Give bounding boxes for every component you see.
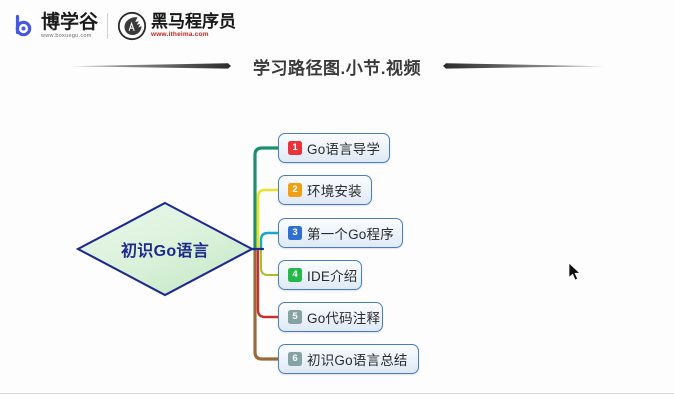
node-label-3: 第一个Go程序 (307, 223, 394, 243)
node-label-1: Go语言导学 (307, 138, 380, 158)
boxuegu-url: www.boxuegu.com (41, 34, 98, 40)
node-label-4: IDE介绍 (307, 265, 358, 285)
itheima-name: 黑马程序员 (151, 13, 236, 30)
boxuegu-logo: 博学谷 www.boxuegu.com (8, 6, 98, 46)
node-label-6: 初识Go语言总结 (307, 349, 408, 369)
node-badge-3: 3 (288, 226, 302, 240)
node-badge-6: 6 (288, 352, 302, 366)
b-letter-icon (8, 11, 38, 41)
mindmap-node-3[interactable]: 3 第一个Go程序 (278, 218, 403, 248)
boxuegu-name: 博学谷 (41, 13, 98, 32)
taper-rule-left-icon (441, 61, 606, 71)
mindmap-node-2[interactable]: 2 环境安装 (278, 175, 372, 205)
arrow-pointer-icon (568, 262, 582, 282)
logo-divider (107, 13, 108, 39)
mindmap-root-label: 初识Go语言 (78, 203, 252, 295)
itheima-logo: 黑马程序员 www.itheima.com (117, 6, 236, 46)
node-badge-5: 5 (288, 310, 302, 324)
slide-title-row: 学习路径图.小节.视频 (0, 50, 674, 82)
horse-circle-icon (117, 11, 147, 41)
mindmap-node-1[interactable]: 1 Go语言导学 (278, 133, 390, 163)
node-label-2: 环境安装 (307, 180, 362, 200)
taper-rule-right-icon (68, 61, 233, 71)
slide-canvas: 博学谷 www.boxuegu.com 黑马程序员 www.itheima.co… (0, 0, 674, 400)
node-badge-4: 4 (288, 268, 302, 282)
frame-bottom-rule (0, 393, 674, 394)
brand-logo-bar: 博学谷 www.boxuegu.com 黑马程序员 www.itheima.co… (8, 6, 236, 46)
mindmap-node-5[interactable]: 5 Go代码注释 (278, 302, 383, 332)
node-label-5: Go代码注释 (307, 307, 380, 327)
node-badge-2: 2 (288, 183, 302, 197)
itheima-url: www.itheima.com (151, 32, 236, 39)
page-title: 学习路径图.小节.视频 (233, 54, 441, 79)
mindmap-node-6[interactable]: 6 初识Go语言总结 (278, 344, 419, 374)
mindmap-node-4[interactable]: 4 IDE介绍 (278, 260, 362, 290)
itheima-wordmark: 黑马程序员 www.itheima.com (151, 13, 236, 39)
boxuegu-wordmark: 博学谷 www.boxuegu.com (41, 13, 98, 40)
node-badge-1: 1 (288, 141, 302, 155)
mindmap-root-node[interactable]: 初识Go语言 (78, 203, 252, 295)
